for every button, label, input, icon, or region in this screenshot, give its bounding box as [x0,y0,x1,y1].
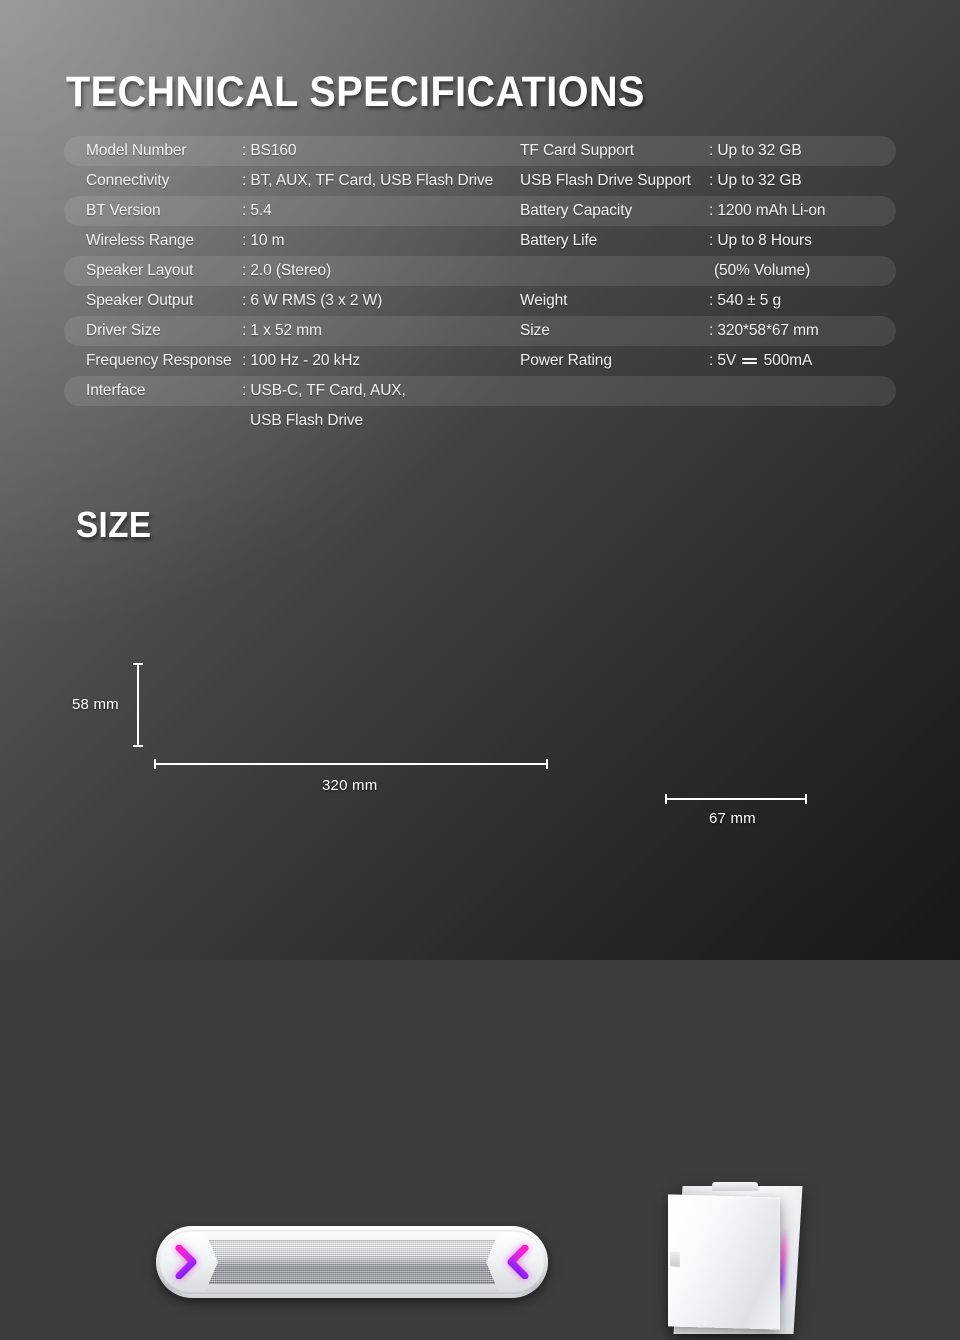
size-diagram: 58 mm 320 mm 67 mm [0,560,960,880]
spec-label-secondary: Power Rating [520,352,612,370]
spec-label-secondary: Weight [520,292,567,310]
spec-row: Speaker Output: 6 W RMS (3 x 2 W)Weight:… [64,286,896,316]
spec-row: Speaker Layout: 2.0 (Stereo)(50% Volume) [64,256,896,286]
spec-row: Model Number: BS160TF Card Support: Up t… [64,136,896,166]
spec-value-secondary: : 1200 mAh Li-on [709,202,825,220]
spec-label: Speaker Layout [86,262,193,280]
dimension-line-height [137,663,139,747]
spec-value: : USB-C, TF Card, AUX, [242,382,406,400]
dimension-label-width: 320 mm [322,777,377,794]
speaker-front-view [156,1226,548,1298]
specifications-table: Model Number: BS160TF Card Support: Up t… [64,136,896,436]
spec-row: Frequency Response: 100 Hz - 20 kHzPower… [64,346,896,376]
speaker-side-view [660,1180,812,1340]
spec-value-secondary: : Up to 32 GB [709,142,802,160]
spec-label: Speaker Output [86,292,193,310]
spec-label: Interface [86,382,145,400]
spec-value-continuation: USB Flash Drive [250,412,363,430]
dimension-line-depth [665,798,807,800]
spec-value: : BT, AUX, TF Card, USB Flash Drive [242,172,493,190]
dimension-label-depth: 67 mm [709,810,756,827]
spec-label: Model Number [86,142,186,160]
dimension-line-width [154,763,548,765]
speaker-side-top-tab [712,1182,758,1191]
dc-power-symbol-icon [742,355,757,366]
spec-value: : 5.4 [242,202,272,220]
spec-label: Driver Size [86,322,161,340]
spec-row: Interface: USB-C, TF Card, AUX, [64,376,896,406]
spec-label-secondary: Size [520,322,550,340]
spec-value: : 6 W RMS (3 x 2 W) [242,292,382,310]
spec-label: Connectivity [86,172,169,190]
spec-row: USB Flash Drive [64,406,896,436]
spec-value-secondary: : 320*58*67 mm [709,322,819,340]
spec-row: Driver Size: 1 x 52 mmSize: 320*58*67 mm [64,316,896,346]
page-title-technical-specifications: TECHNICAL SPECIFICATIONS [66,66,645,118]
dimension-label-height: 58 mm [72,696,119,713]
spec-label-secondary: Battery Life [520,232,597,250]
spec-row: Connectivity: BT, AUX, TF Card, USB Flas… [64,166,896,196]
spec-label-secondary: USB Flash Drive Support [520,172,691,190]
spec-value: : 2.0 (Stereo) [242,262,331,280]
speaker-side-port-nub [670,1250,680,1266]
spec-label: Wireless Range [86,232,194,250]
spec-value: : 100 Hz - 20 kHz [242,352,360,370]
spec-label-secondary: Battery Capacity [520,202,632,220]
spec-value: : BS160 [242,142,296,160]
spec-value-secondary: : Up to 8 Hours [709,232,812,250]
rgb-chevron-right-icon [506,1245,530,1279]
speaker-mesh-grille [208,1240,496,1284]
spec-label: Frequency Response [86,352,232,370]
spec-value-secondary: : 540 ± 5 g [709,292,781,310]
spec-label: BT Version [86,202,161,220]
spec-label-secondary: TF Card Support [520,142,634,160]
rgb-chevron-left-icon [174,1245,198,1279]
product-spec-page: TECHNICAL SPECIFICATIONS Model Number: B… [0,0,960,960]
section-title-size: SIZE [76,503,151,547]
speaker-side-front-panel [668,1194,780,1329]
spec-value-secondary: : 5V 500mA [709,352,812,370]
speaker-body-shell [156,1226,548,1298]
spec-value-secondary: : Up to 32 GB [709,172,802,190]
spec-row: Wireless Range: 10 mBattery Life: Up to … [64,226,896,256]
spec-value: : 10 m [242,232,284,250]
spec-value: : 1 x 52 mm [242,322,322,340]
spec-row: BT Version: 5.4Battery Capacity: 1200 mA… [64,196,896,226]
spec-value-secondary-continuation: (50% Volume) [714,262,810,280]
